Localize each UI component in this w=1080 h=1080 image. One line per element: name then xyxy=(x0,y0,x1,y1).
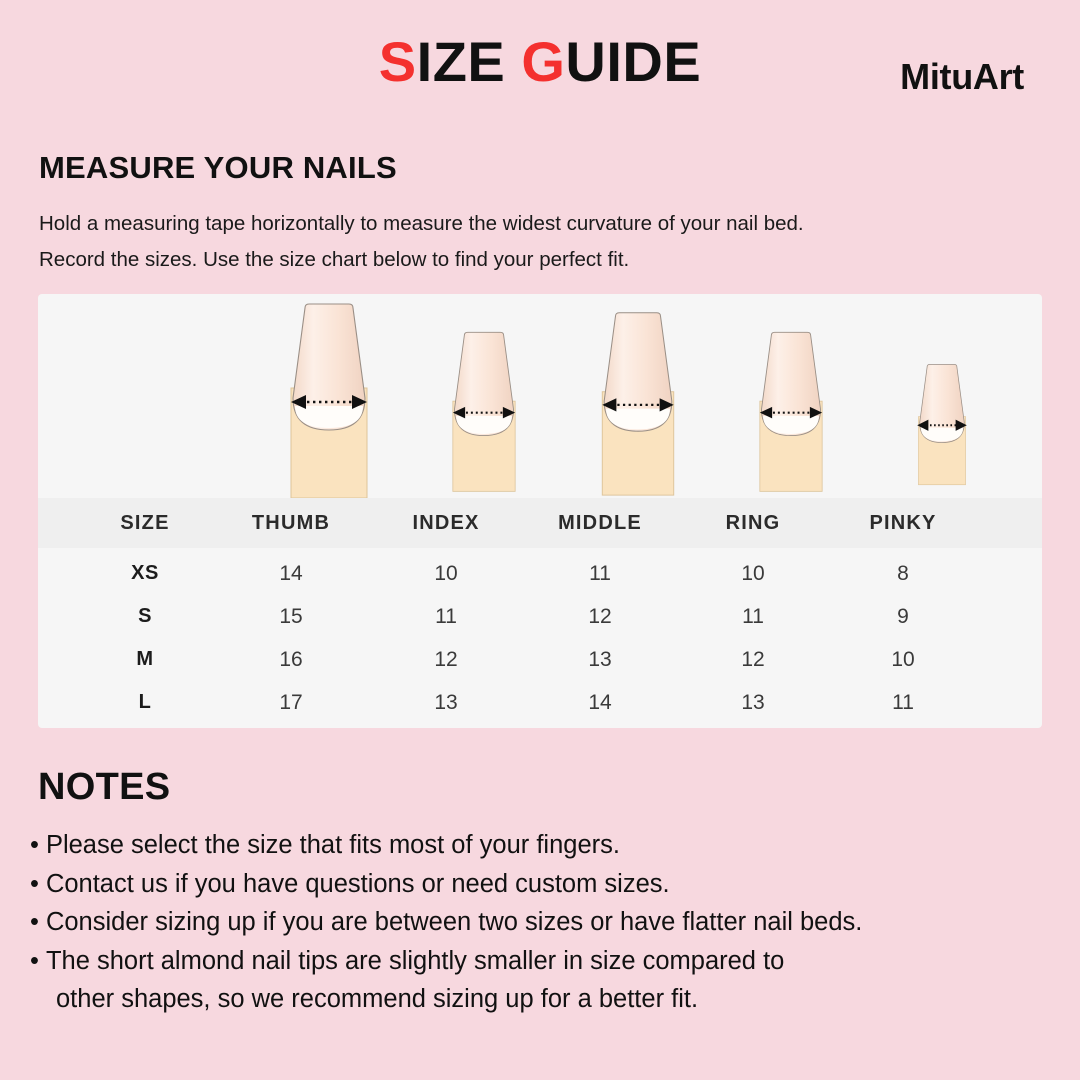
cell-middle: 11 xyxy=(524,552,676,595)
cell-thumb: 16 xyxy=(215,638,367,681)
note-item-continuation: other shapes, so we recommend sizing up … xyxy=(30,980,1070,1019)
column-header-middle: MIDDLE xyxy=(524,498,676,548)
middle-nail-illustration xyxy=(562,302,714,498)
nail-illustrations xyxy=(38,294,1042,498)
nail-diagram-svg xyxy=(591,308,685,498)
notes-heading: NOTES xyxy=(38,766,170,809)
bullet-icon: • xyxy=(30,831,39,859)
cell-size: M xyxy=(69,638,221,681)
thumb-nail-illustration xyxy=(253,302,405,498)
cell-thumb: 15 xyxy=(215,595,367,638)
column-header-pinky: PINKY xyxy=(827,498,979,548)
cell-thumb: 17 xyxy=(215,681,367,724)
table-row: M 16 12 13 12 10 xyxy=(38,638,1042,681)
cell-size: L xyxy=(69,681,221,724)
note-item: •Consider sizing up if you are between t… xyxy=(30,903,1070,942)
cell-ring: 13 xyxy=(677,681,829,724)
nail-diagram-svg xyxy=(279,302,379,498)
note-text: Consider sizing up if you are between tw… xyxy=(46,908,862,936)
table-row: XS 14 10 11 10 8 xyxy=(38,552,1042,595)
title-accent-s: S xyxy=(379,30,417,93)
nail-diagram-svg xyxy=(443,324,525,498)
measure-heading: MEASURE YOUR NAILS xyxy=(39,150,397,186)
column-header-index: INDEX xyxy=(370,498,522,548)
cell-pinky: 11 xyxy=(827,681,979,724)
page-header: SIZE GUIDE MituArt xyxy=(0,0,1080,128)
cell-middle: 13 xyxy=(524,638,676,681)
column-header-size: SIZE xyxy=(69,498,221,548)
measure-instruction-line-1: Hold a measuring tape horizontally to me… xyxy=(39,206,1039,242)
index-nail-illustration xyxy=(408,302,560,498)
column-header-ring: RING xyxy=(677,498,829,548)
cell-pinky: 10 xyxy=(827,638,979,681)
cell-index: 12 xyxy=(370,638,522,681)
measure-instruction-line-2: Record the sizes. Use the size chart bel… xyxy=(39,242,1039,278)
brand-logo: MituArt xyxy=(900,56,1024,98)
nail-diagram-svg xyxy=(750,324,832,498)
nail-diagram-svg xyxy=(911,350,973,498)
cell-ring: 12 xyxy=(677,638,829,681)
pinky-nail-illustration xyxy=(866,302,1018,498)
note-item: •Please select the size that fits most o… xyxy=(30,826,1070,865)
cell-index: 13 xyxy=(370,681,522,724)
note-text: The short almond nail tips are slightly … xyxy=(46,947,784,975)
cell-ring: 10 xyxy=(677,552,829,595)
title-accent-g: G xyxy=(521,30,565,93)
cell-middle: 14 xyxy=(524,681,676,724)
cell-ring: 11 xyxy=(677,595,829,638)
note-item: •Contact us if you have questions or nee… xyxy=(30,865,1070,904)
note-text: Please select the size that fits most of… xyxy=(46,831,620,859)
title-rest-uide: UIDE xyxy=(565,30,701,93)
measure-instructions: Hold a measuring tape horizontally to me… xyxy=(39,206,1039,278)
note-text: Contact us if you have questions or need… xyxy=(46,870,670,898)
cell-index: 11 xyxy=(370,595,522,638)
cell-size: XS xyxy=(69,552,221,595)
notes-list: •Please select the size that fits most o… xyxy=(30,826,1070,1019)
cell-pinky: 9 xyxy=(827,595,979,638)
bullet-icon: • xyxy=(30,947,39,975)
column-header-thumb: THUMB xyxy=(215,498,367,548)
cell-middle: 12 xyxy=(524,595,676,638)
note-item: •The short almond nail tips are slightly… xyxy=(30,942,1070,981)
cell-pinky: 8 xyxy=(827,552,979,595)
table-row: S 15 11 12 11 9 xyxy=(38,595,1042,638)
table-row: L 17 13 14 13 11 xyxy=(38,681,1042,724)
cell-size: S xyxy=(69,595,221,638)
size-chart-panel: SIZE THUMB INDEX MIDDLE RING PINKY XS 14… xyxy=(38,294,1042,728)
ring-nail-illustration xyxy=(715,302,867,498)
bullet-icon: • xyxy=(30,870,39,898)
cell-thumb: 14 xyxy=(215,552,367,595)
cell-index: 10 xyxy=(370,552,522,595)
title-rest-ize: IZE xyxy=(417,30,522,93)
bullet-icon: • xyxy=(30,908,39,936)
table-header-row: SIZE THUMB INDEX MIDDLE RING PINKY xyxy=(38,498,1042,548)
